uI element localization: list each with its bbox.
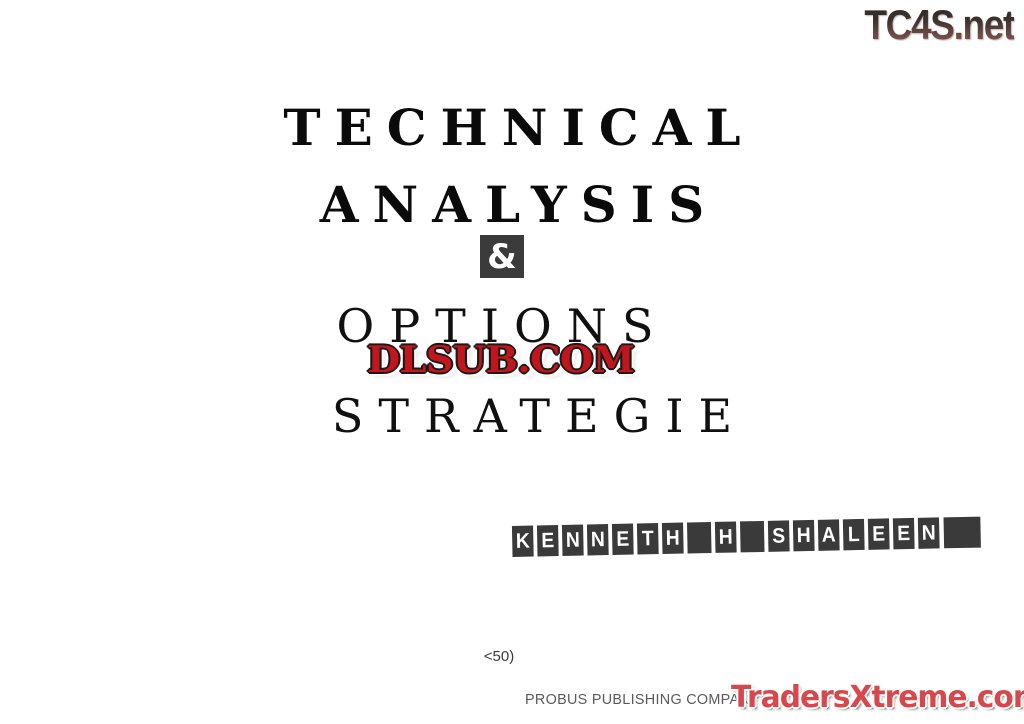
author-tile-h: H — [662, 523, 684, 554]
author-tile-s: S — [768, 520, 790, 551]
author-tile-h: H — [793, 520, 815, 551]
title-line-analysis: ANALYSIS — [0, 177, 1024, 233]
publisher-name: PROBUS PUBLISHING COMPANY — [525, 690, 760, 709]
author-tile-h: H — [715, 521, 737, 552]
author-tile-n: N — [587, 524, 609, 555]
book-cover-page: TC4S.net TECHNICAL ANALYSIS & OPTIONS ST… — [0, 0, 1024, 724]
author-tile-l: L — [843, 519, 865, 550]
author-tile-a: A — [818, 519, 840, 550]
title-line-strategie: STRATEGIE — [20, 390, 1024, 442]
dlsub-watermark: DLSUB.COM — [367, 340, 634, 380]
author-tile-k: K — [512, 526, 534, 557]
author-tile-n: N — [918, 517, 940, 548]
author-tile-n: N — [562, 525, 584, 556]
publisher-mark: <50) — [0, 648, 1011, 666]
title-line-technical: TECHNICAL — [0, 100, 1024, 156]
author-tile-e: E — [537, 525, 559, 556]
author-tile-t: T — [637, 523, 659, 554]
author-tile-e: E — [893, 518, 915, 549]
title-ampersand-container: & — [0, 235, 1024, 281]
author-tile-blank — [687, 522, 712, 553]
title-ampersand-block: & — [480, 235, 524, 278]
author-tile-e: E — [868, 518, 890, 549]
author-tile-blank — [944, 517, 981, 549]
author-name-strip: KENNETHHSHALEEN — [511, 517, 983, 557]
tradersxtreme-watermark: TradersXtreme.com — [731, 681, 1024, 715]
author-tile-blank — [740, 521, 765, 552]
author-tile-e: E — [612, 524, 634, 555]
tc4s-site-watermark: TC4S.net — [864, 2, 1014, 48]
